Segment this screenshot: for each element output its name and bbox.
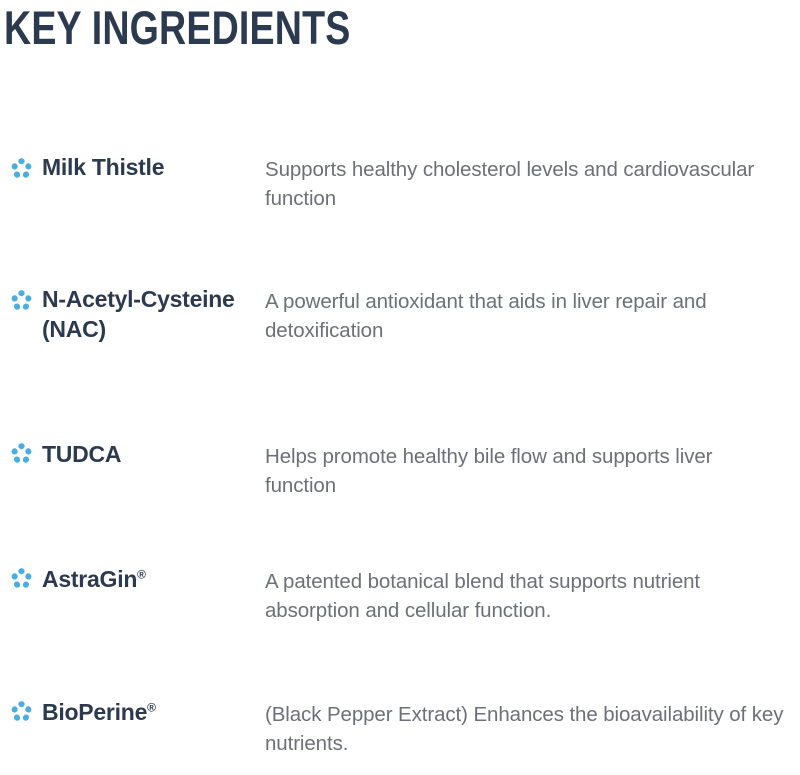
five-petal-flower-icon: [10, 567, 33, 590]
ingredient-name-cell: AstraGin®: [42, 545, 265, 594]
ingredient-icon-cell: [0, 133, 42, 180]
key-ingredients-section: KEY INGREDIENTS Milk Thistle: [0, 0, 800, 775]
ingredient-description-cell: (Black Pepper Extract) Enhances the bioa…: [265, 678, 800, 758]
ingredient-name-text: AstraGin: [42, 566, 137, 592]
ingredient-name: BioPerine®: [42, 697, 259, 727]
ingredient-list: Milk Thistle Supports healthy cholestero…: [0, 133, 800, 758]
ingredient-name-text: TUDCA: [42, 441, 121, 467]
ingredient-icon-cell: [0, 420, 42, 465]
registered-trademark-symbol: ®: [147, 700, 156, 714]
ingredient-name-cell: TUDCA: [42, 420, 265, 469]
list-item: AstraGin® A patented botanical blend tha…: [0, 545, 800, 678]
registered-trademark-symbol: ®: [137, 567, 146, 581]
ingredient-name-text: BioPerine: [42, 699, 147, 725]
ingredient-description-cell: A powerful antioxidant that aids in live…: [265, 270, 800, 345]
ingredient-description: A powerful antioxidant that aids in live…: [265, 287, 765, 345]
page-title: KEY INGREDIENTS: [4, 2, 350, 54]
ingredient-name: Milk Thistle: [42, 152, 259, 182]
list-item: N-Acetyl-Cysteine (NAC) A powerful antio…: [0, 270, 800, 420]
ingredient-name-cell: BioPerine®: [42, 678, 265, 727]
ingredient-name-cell: N-Acetyl-Cysteine (NAC): [42, 270, 265, 344]
ingredient-name-text: Milk Thistle: [42, 154, 164, 180]
five-petal-flower-icon: [10, 700, 33, 723]
ingredient-description: A patented botanical blend that supports…: [265, 567, 765, 625]
five-petal-flower-icon: [10, 442, 33, 465]
five-petal-flower-icon: [10, 289, 33, 312]
ingredient-name: TUDCA: [42, 439, 259, 469]
ingredient-description: Supports healthy cholesterol levels and …: [265, 155, 765, 213]
ingredient-name: N-Acetyl-Cysteine (NAC): [42, 284, 259, 344]
list-item: TUDCA Helps promote healthy bile flow an…: [0, 420, 800, 545]
ingredient-description: Helps promote healthy bile flow and supp…: [265, 442, 765, 500]
ingredient-name: AstraGin®: [42, 564, 259, 594]
ingredient-name-cell: Milk Thistle: [42, 133, 265, 182]
ingredient-name-text: N-Acetyl-Cysteine (NAC): [42, 286, 235, 342]
ingredient-description-cell: Helps promote healthy bile flow and supp…: [265, 420, 800, 500]
five-petal-flower-icon: [10, 157, 33, 180]
ingredient-description: (Black Pepper Extract) Enhances the bioa…: [265, 700, 796, 758]
list-item: BioPerine® (Black Pepper Extract) Enhanc…: [0, 678, 800, 758]
ingredient-icon-cell: [0, 678, 42, 723]
ingredient-icon-cell: [0, 545, 42, 590]
ingredient-icon-cell: [0, 270, 42, 312]
list-item: Milk Thistle Supports healthy cholestero…: [0, 133, 800, 270]
ingredient-description-cell: A patented botanical blend that supports…: [265, 545, 800, 625]
ingredient-description-cell: Supports healthy cholesterol levels and …: [265, 133, 800, 213]
